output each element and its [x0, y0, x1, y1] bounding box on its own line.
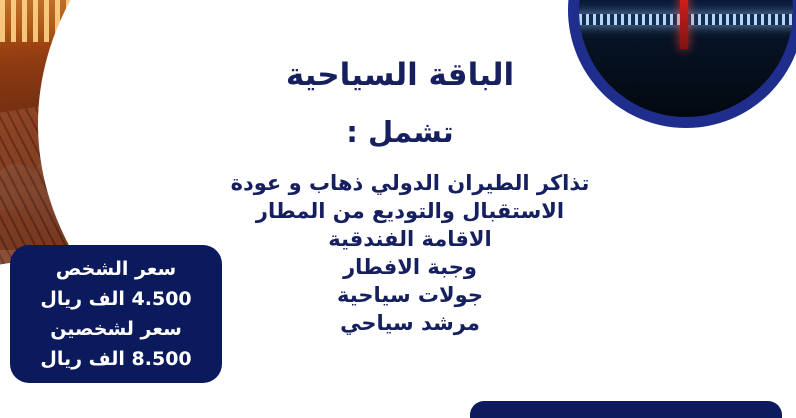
tourism-package-poster: الباقة السياحية تشمل : تذاكر الطيران الد… — [0, 0, 796, 418]
price-badge: سعر الشخص 4.500 الف ريال سعر لشخصين 8.50… — [10, 245, 222, 383]
city-lights-overlay — [579, 0, 793, 14]
page-title: الباقة السياحية — [150, 58, 650, 94]
price-two-persons-label: سعر لشخصين — [20, 314, 212, 344]
price-per-person-value: 4.500 الف ريال — [20, 284, 212, 314]
bottom-navy-bar — [470, 401, 782, 418]
price-per-person-label: سعر الشخص — [20, 254, 212, 284]
list-item: تذاكر الطيران الدولي ذهاب و عودة — [140, 170, 680, 198]
price-two-persons-value: 8.500 الف ريال — [20, 344, 212, 374]
list-item: الاستقبال والتوديع من المطار — [140, 198, 680, 226]
poster-headings: الباقة السياحية تشمل : — [150, 58, 650, 149]
list-item: الاقامة الفندقية — [140, 226, 680, 254]
dome-small — [0, 164, 38, 190]
includes-label: تشمل : — [150, 116, 650, 149]
